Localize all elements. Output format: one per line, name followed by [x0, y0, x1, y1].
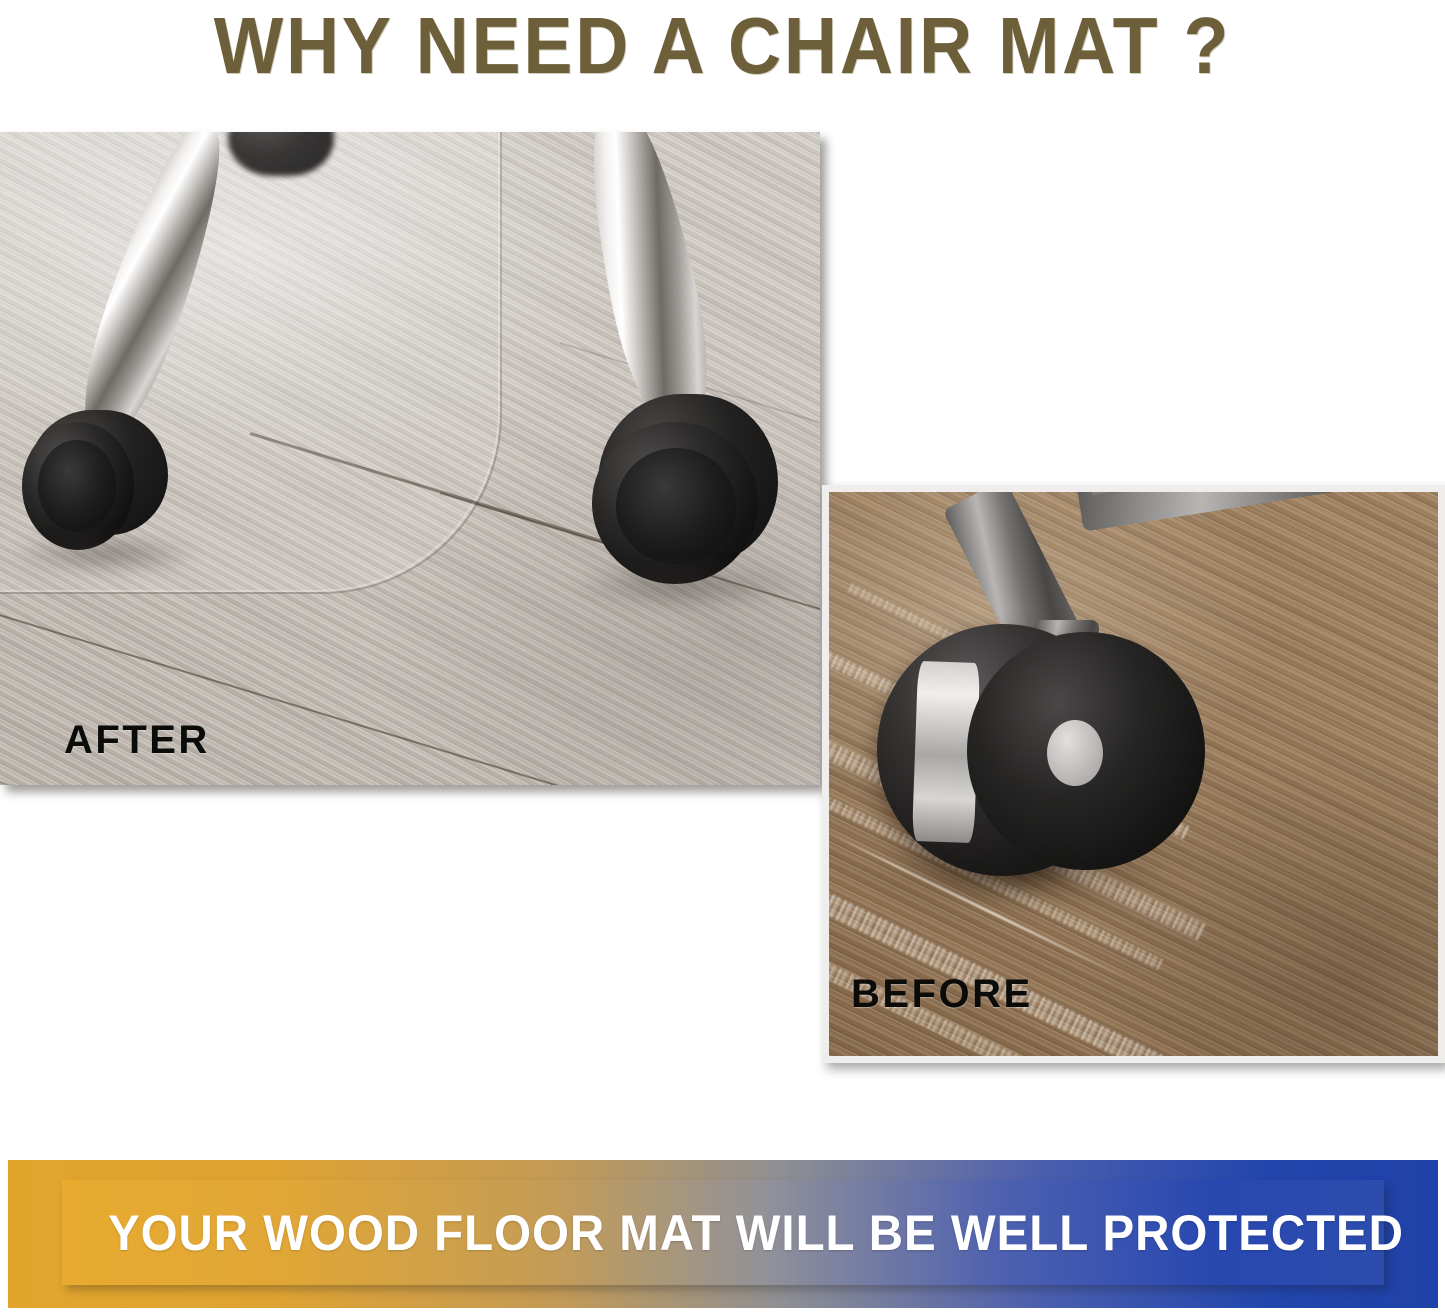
caster-center-cap — [1047, 720, 1103, 786]
bottom-banner: YOUR WOOD FLOOR MAT WILL BE WELL PROTECT… — [8, 1160, 1438, 1308]
caster-shadow-left — [10, 532, 200, 576]
banner-headline: YOUR WOOD FLOOR MAT WILL BE WELL PROTECT… — [108, 1204, 1404, 1262]
product-infographic: WHY NEED A CHAIR MAT ? AFTER — [0, 0, 1445, 1314]
banner-inner-panel: YOUR WOOD FLOOR MAT WILL BE WELL PROTECT… — [62, 1180, 1384, 1285]
before-photo: BEFORE — [822, 485, 1445, 1063]
caster-wheel-hub-left — [38, 440, 116, 532]
after-label: AFTER — [64, 718, 210, 762]
after-photo: AFTER — [0, 132, 820, 785]
caster-wheel-hub-right — [616, 448, 736, 564]
before-label: BEFORE — [851, 972, 1033, 1016]
caster-shadow-right — [570, 562, 800, 610]
page-title: WHY NEED A CHAIR MAT ? — [58, 0, 1387, 108]
